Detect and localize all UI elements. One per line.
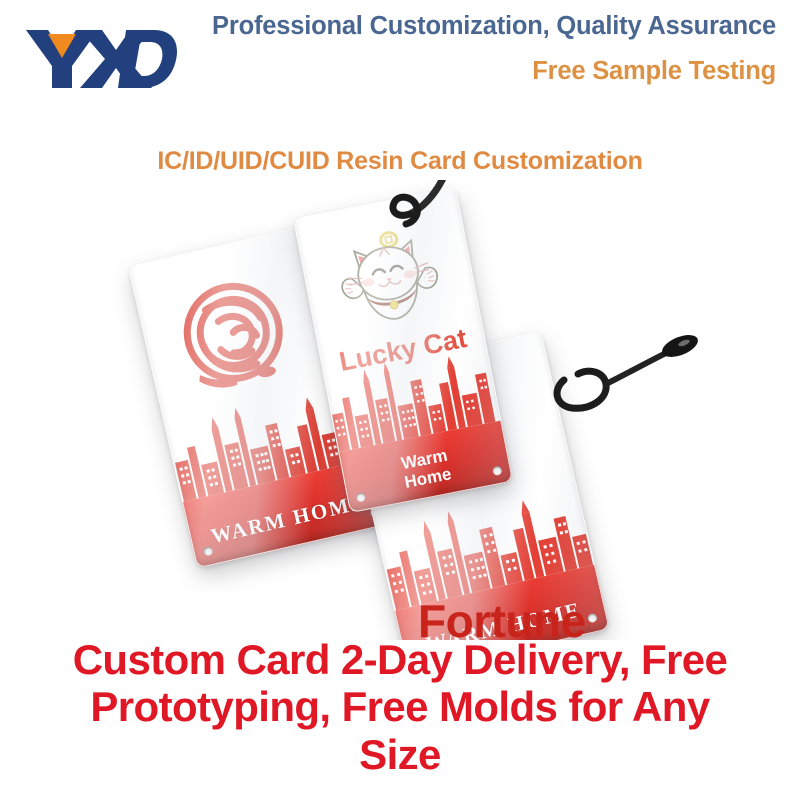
lanyard-cord-right bbox=[548, 330, 758, 450]
footer-headline: Custom Card 2-Day Delivery, Free Prototy… bbox=[16, 636, 784, 778]
header: Professional Customization, Quality Assu… bbox=[0, 0, 800, 120]
advertisement-banner: Professional Customization, Quality Assu… bbox=[0, 0, 800, 800]
footer-line-2: Prototyping, Free Molds for Any bbox=[16, 683, 784, 730]
subheadline: IC/ID/UID/CUID Resin Card Customization bbox=[0, 147, 800, 176]
overlay-word-fortune: Fortune bbox=[418, 594, 586, 640]
footer-line-1: Custom Card 2-Day Delivery, Free bbox=[16, 636, 784, 683]
lucky-cat-artwork bbox=[326, 222, 453, 341]
tagline-primary: Professional Customization, Quality Assu… bbox=[0, 12, 776, 41]
product-photo: WARM HOME bbox=[0, 180, 800, 640]
tagline-secondary: Free Sample Testing bbox=[532, 57, 776, 86]
footer-line-3: Size bbox=[16, 731, 784, 778]
